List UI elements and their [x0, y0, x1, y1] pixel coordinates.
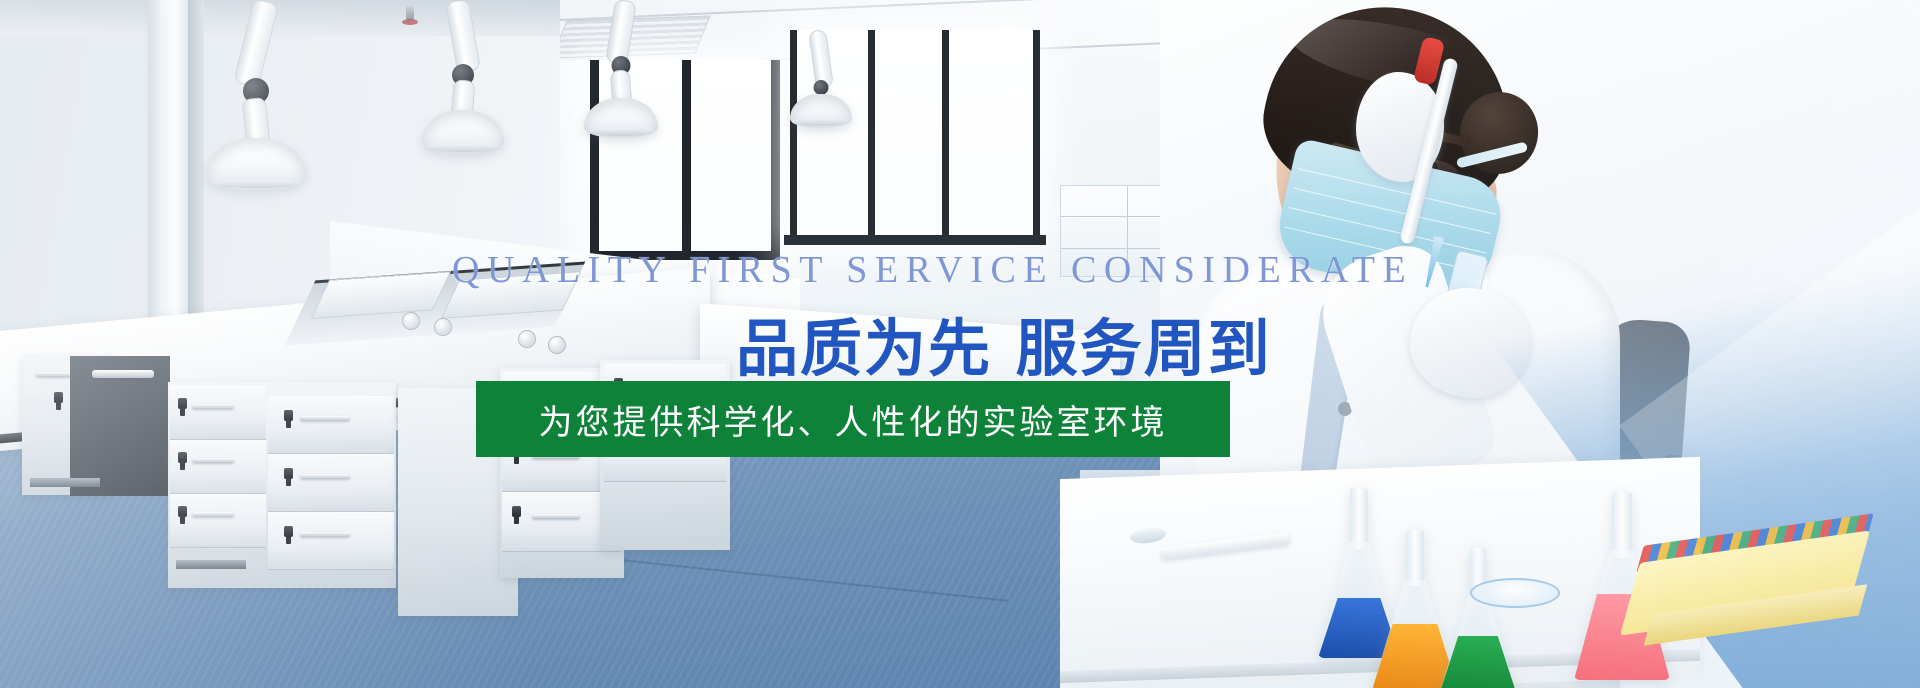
subline-green-bar: 为您提供科学化、人性化的实验室环境 [476, 381, 1230, 457]
subline-chinese: 为您提供科学化、人性化的实验室环境 [539, 395, 1168, 444]
banner-copy: QUALITY FIRST SERVICE CONSIDERATE 品质为先 服… [0, 0, 1920, 688]
hero-banner: QUALITY FIRST SERVICE CONSIDERATE 品质为先 服… [0, 0, 1920, 688]
headline-chinese: 品质为先 服务周到 [736, 298, 1272, 388]
english-tagline: QUALITY FIRST SERVICE CONSIDERATE [452, 248, 1413, 292]
